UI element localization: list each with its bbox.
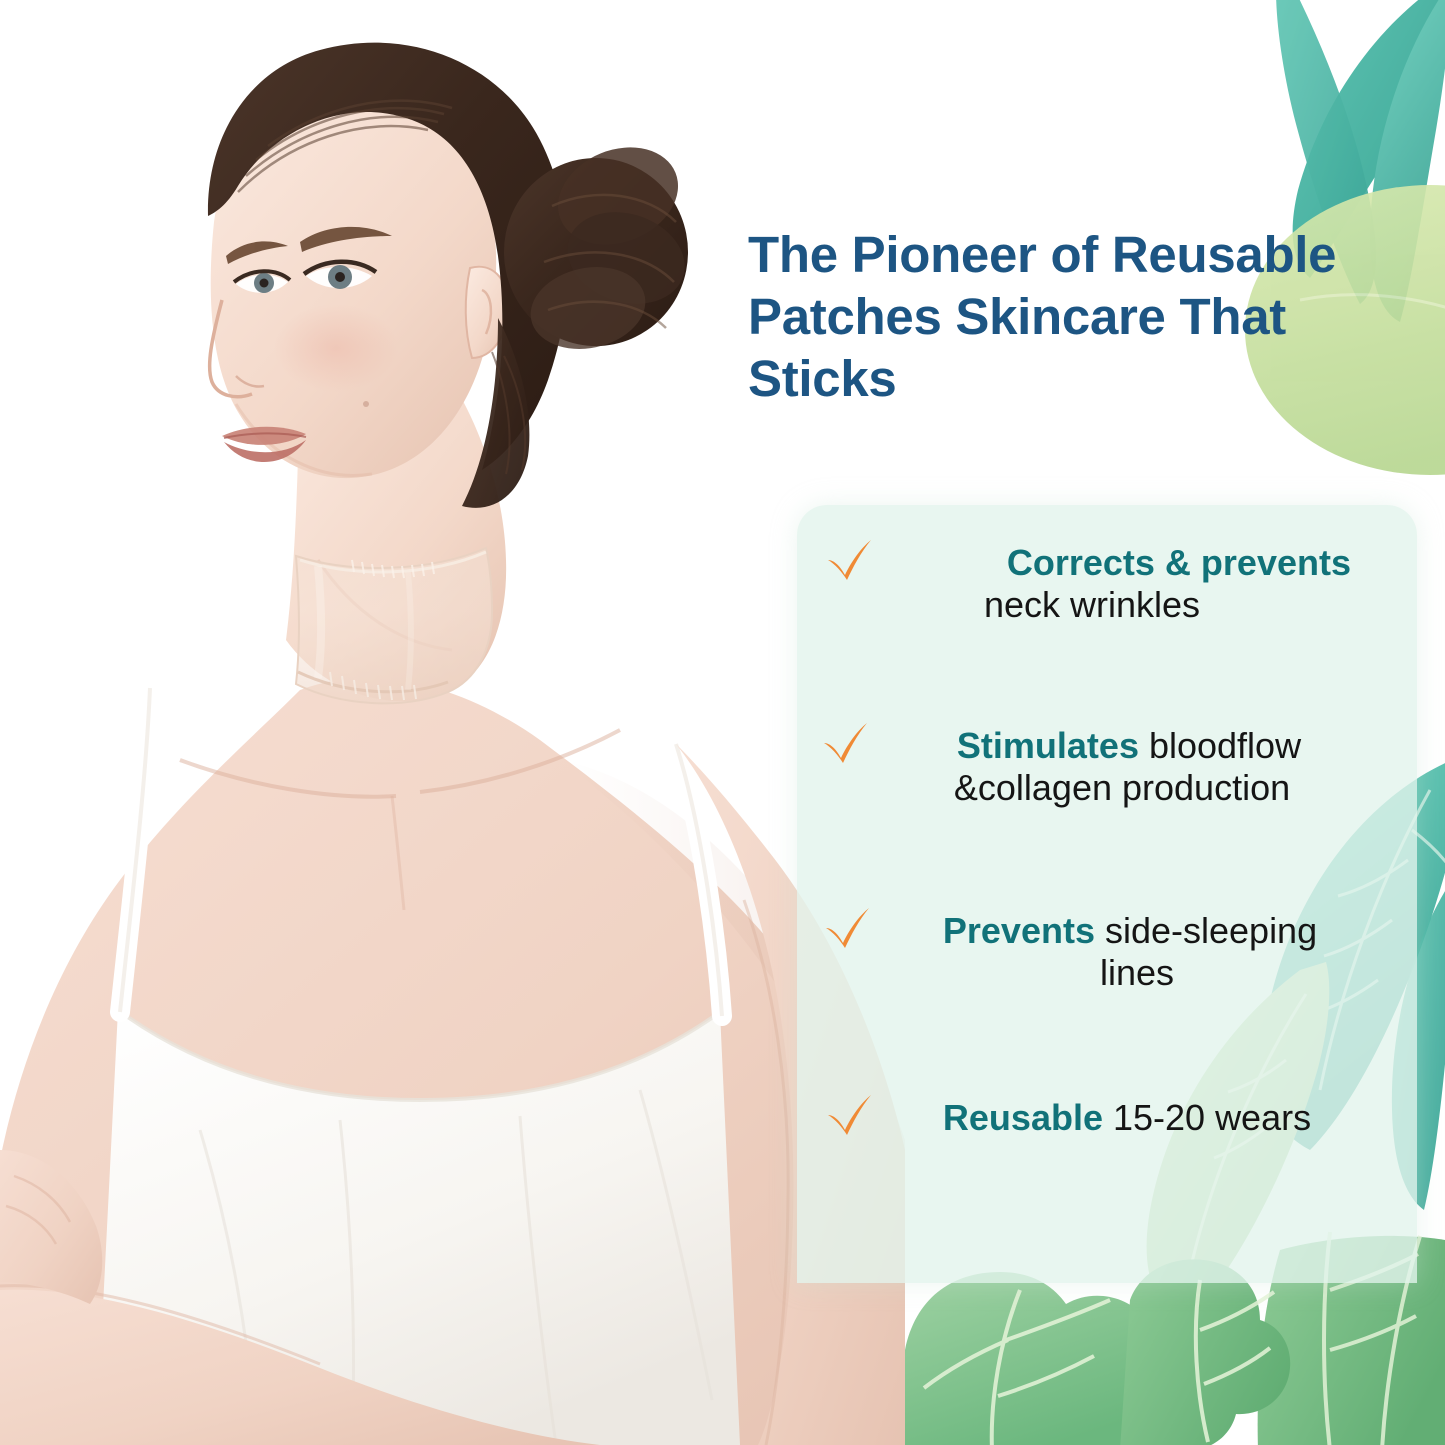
benefit-item-stimulates-bloodflow: Stimulates bloodflow &collagen productio… [797, 725, 1417, 809]
leaf-bottom-lobed-cluster [900, 1259, 1290, 1445]
check-icon [821, 721, 869, 767]
silicone-neck-patch [296, 548, 492, 703]
benefit-plain-text-2: &collagen production [954, 767, 1290, 808]
benefit-plain-text-2: lines [1100, 952, 1174, 993]
benefit-item-prevents-side-sleeping-lines: Prevents side-sleeping lines [797, 910, 1417, 994]
benefit-strong-text: Prevents [943, 910, 1095, 951]
benefit-item-corrects-prevents: Corrects & prevents neck wrinkles [797, 542, 1417, 626]
model-illustration [0, 0, 905, 1445]
benefit-strong-text: Stimulates [957, 725, 1139, 766]
check-icon [825, 1093, 873, 1139]
benefits-list: Corrects & prevents neck wrinkles Stimul… [797, 505, 1417, 1283]
benefit-plain-text-2: neck wrinkles [984, 584, 1200, 625]
cheek-highlight [274, 304, 398, 392]
product-marketing-image: The Pioneer of Reusable Patches Skincare… [0, 0, 1445, 1445]
benefit-plain-text: 15-20 wears [1103, 1097, 1311, 1138]
page-title: The Pioneer of Reusable Patches Skincare… [748, 224, 1420, 411]
check-icon [823, 906, 871, 952]
benefit-item-reusable: Reusable 15-20 wears [797, 1097, 1417, 1139]
model-photo [0, 0, 905, 1445]
benefit-plain-text: bloodflow [1139, 725, 1301, 766]
benefit-strong-text: Reusable [943, 1097, 1103, 1138]
benefit-strong-text: Corrects & prevents [1007, 542, 1351, 583]
benefit-plain-text: side-sleeping [1095, 910, 1317, 951]
check-icon [825, 538, 873, 584]
